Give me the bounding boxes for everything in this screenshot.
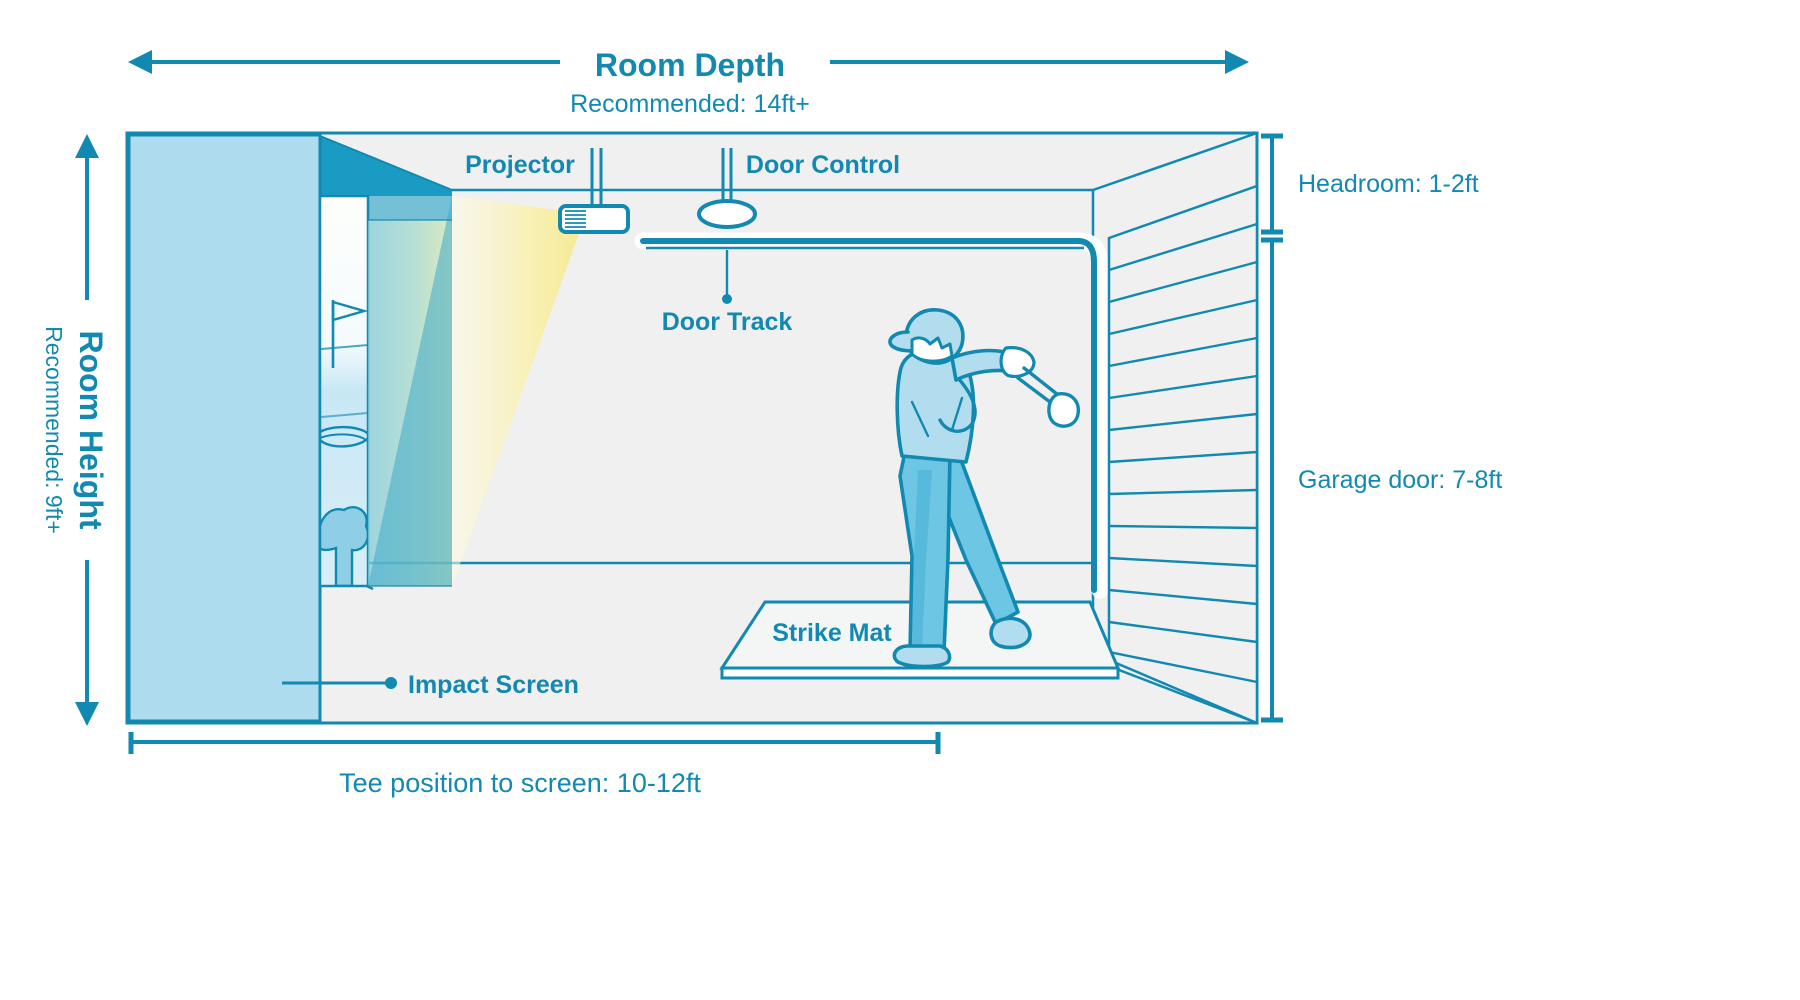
garage-door-label: Garage door: 7-8ft: [1298, 466, 1502, 494]
diagram-stage: Projector Door Control Door Track: [0, 0, 1800, 1000]
room-depth-arrow-right: [1225, 50, 1249, 74]
impact-screen-fill[interactable]: [129, 135, 320, 721]
room-height-arrow-down: [75, 702, 99, 726]
room-depth-subtitle: Recommended: 14ft+: [570, 90, 810, 118]
strike-mat-edge: [722, 668, 1118, 678]
door-track-label: Door Track: [662, 308, 793, 336]
impact-screen-label: Impact Screen: [408, 671, 579, 699]
room-height-subtitle: Recommended: 9ft+: [41, 326, 67, 534]
room-height-title: Room Height: [73, 330, 109, 529]
strike-mat-label: Strike Mat: [772, 619, 892, 647]
headroom-label: Headroom: 1-2ft: [1298, 170, 1479, 198]
tee-position-label: Tee position to screen: 10-12ft: [339, 768, 701, 798]
tee-position-dimension: [131, 732, 938, 754]
room-depth-arrow-left: [128, 50, 152, 74]
room-depth-title: Room Depth: [595, 47, 785, 83]
headroom-dimension: [1261, 136, 1283, 232]
golf-simulator-room-diagram: Projector Door Control Door Track: [0, 0, 1800, 1000]
golfer-front-shoe: [894, 646, 949, 667]
projector-label: Projector: [465, 151, 575, 179]
golf-club-head: [1049, 394, 1078, 426]
impact-screen-leader-dot: [385, 677, 397, 689]
door-control-label: Door Control: [746, 151, 900, 179]
impact-screen-panel[interactable]: [129, 135, 320, 721]
door-track-leader-dot: [722, 294, 732, 304]
golfer-back-shoe: [991, 618, 1030, 647]
garage-door: [1109, 186, 1257, 723]
room-height-arrow-up: [75, 134, 99, 158]
door-control-body[interactable]: [699, 201, 755, 227]
garage-door-dimension: [1261, 240, 1283, 720]
